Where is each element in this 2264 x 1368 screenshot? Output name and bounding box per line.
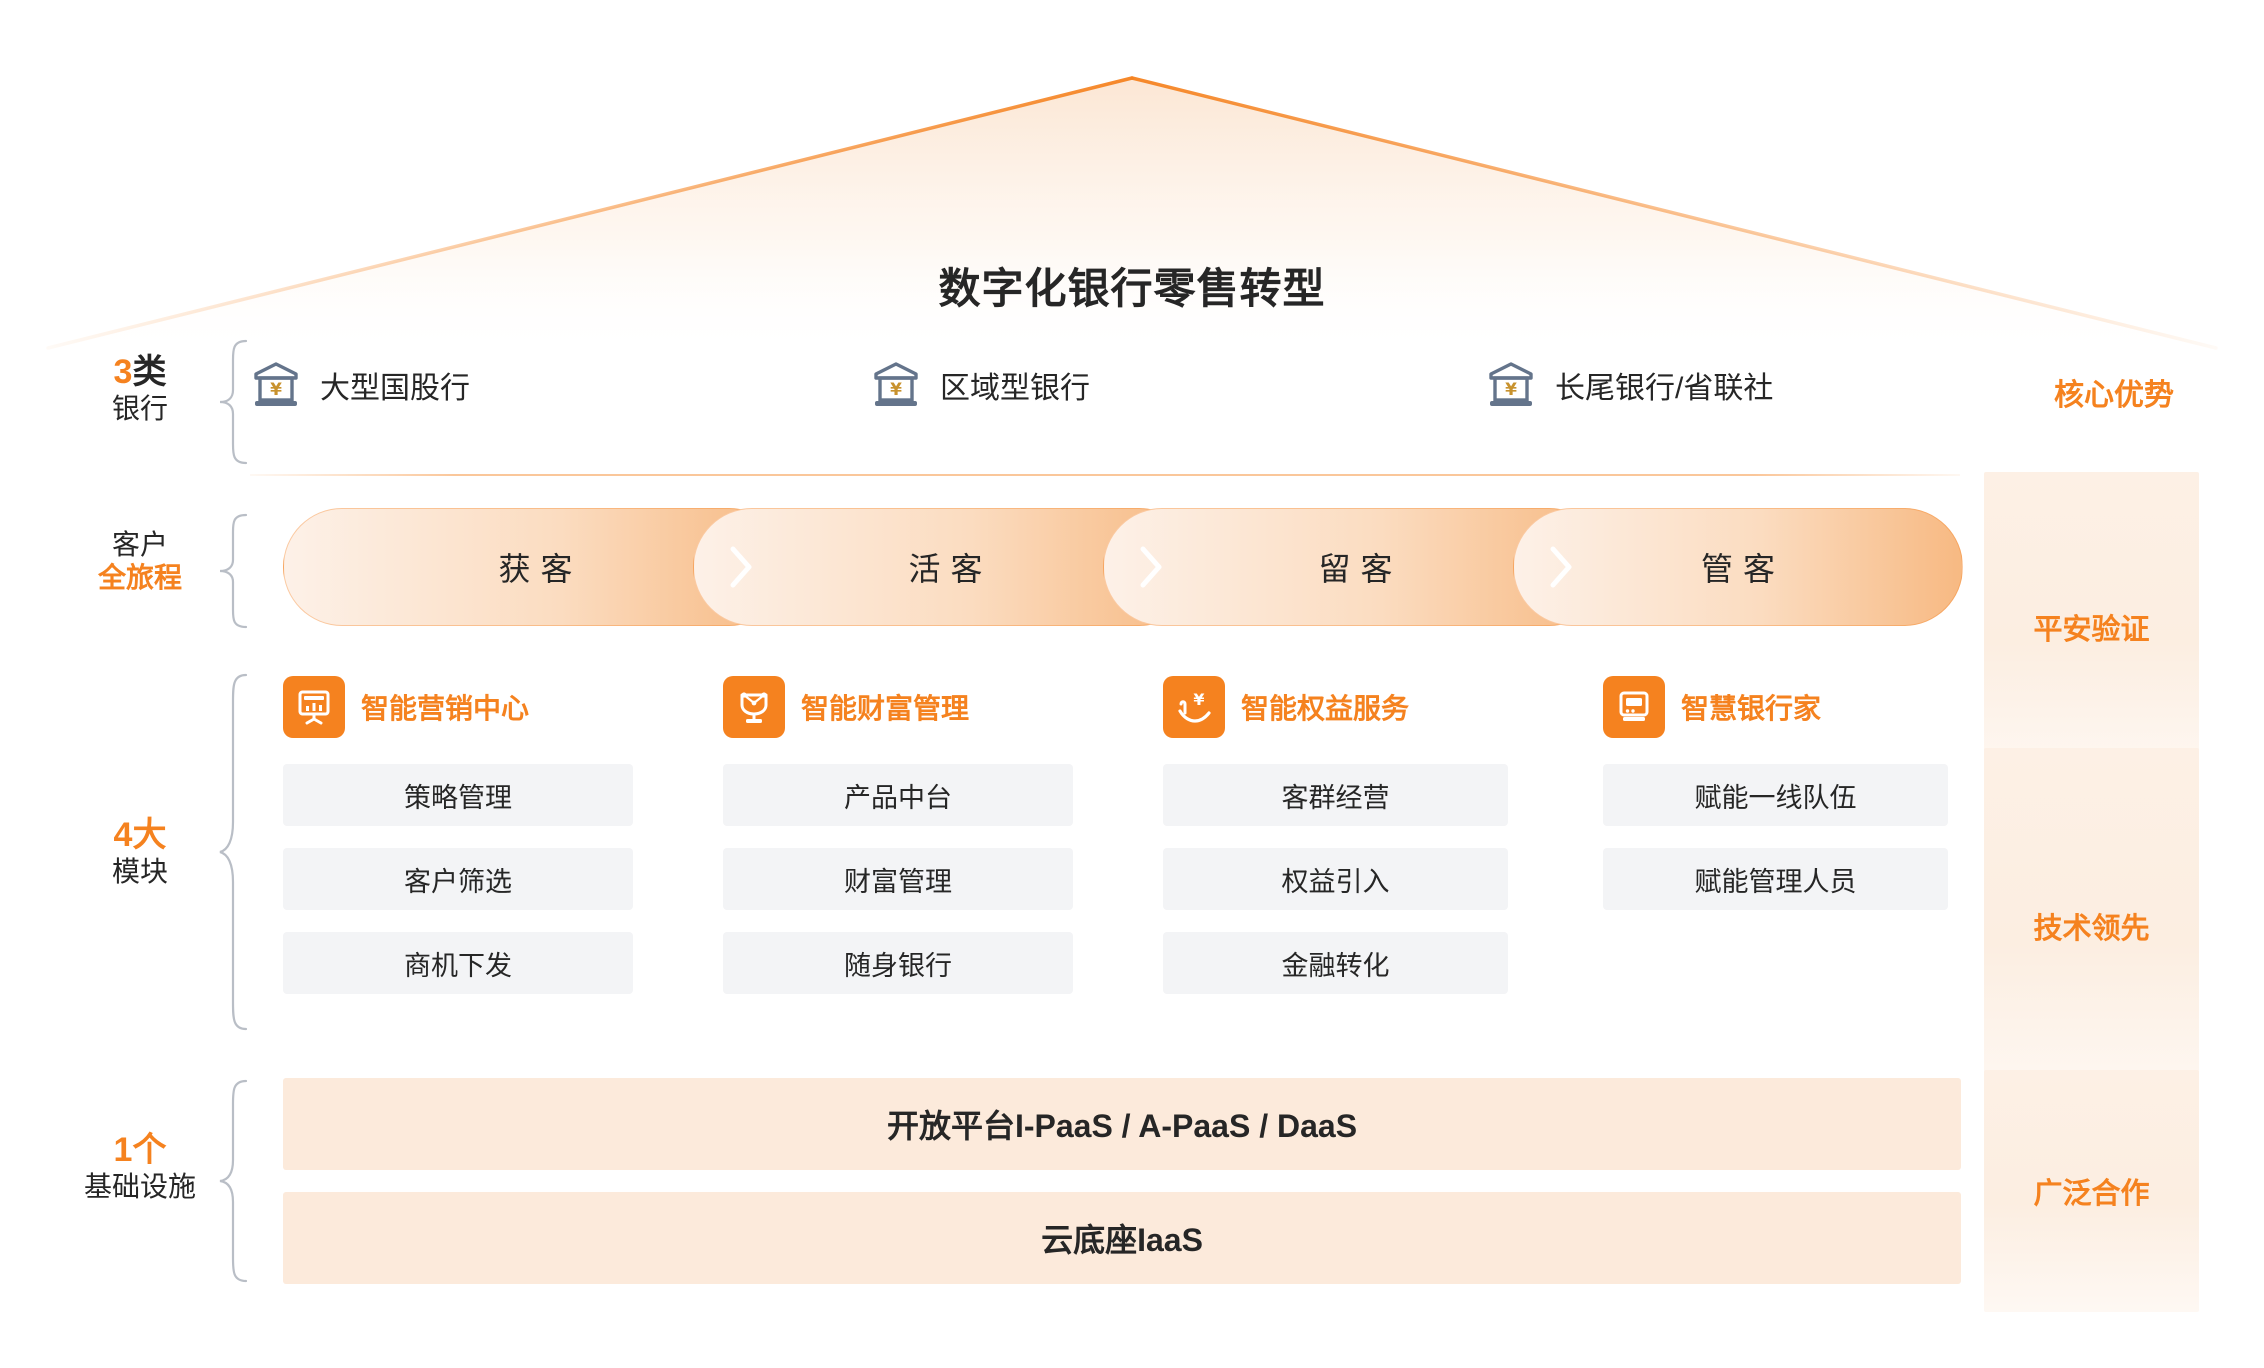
advantage-panel-1[interactable]: 平安验证 xyxy=(1984,472,2199,782)
brace-infrastructure xyxy=(216,1078,250,1284)
svg-text:¥: ¥ xyxy=(270,380,282,400)
row-label-modules: 4大 模块 xyxy=(70,815,210,888)
module-header[interactable]: 智能营销中心 xyxy=(283,672,633,742)
advantage-panel-3[interactable]: 广泛合作 xyxy=(1984,1070,2199,1312)
infrastructure-bar-1[interactable]: 开放平台I-PaaS / A-PaaS / DaaS xyxy=(283,1078,1961,1170)
module-column-1: 智能营销中心 策略管理 客户筛选 商机下发 xyxy=(283,672,633,994)
bank-type-name: 长尾银行/省联社 xyxy=(1555,363,1773,407)
row-label-banks: 3类 银行 xyxy=(70,352,210,425)
module-column-3: ¥ 智能权益服务 客群经营 权益引入 金融转化 xyxy=(1163,672,1508,994)
module-title: 智能财富管理 xyxy=(801,687,969,727)
row-label-journey: 客户 全旅程 xyxy=(70,528,210,594)
row-label-banks-number: 3 xyxy=(114,353,133,391)
bank-types-row: ¥ 大型国股行 ¥ 区域型银行 ¥ xyxy=(250,330,1950,440)
bank-type-name: 大型国股行 xyxy=(320,363,470,407)
row-label-modules-unit: 大 xyxy=(132,816,166,854)
module-item-chip[interactable]: 客户筛选 xyxy=(283,848,633,910)
brace-banks xyxy=(216,338,250,466)
diagram-canvas: 数字化银行零售转型 3类 银行 ¥ 大型国股行 xyxy=(0,0,2264,1368)
page-title: 数字化银行零售转型 xyxy=(0,255,2264,316)
section-divider xyxy=(250,474,1960,476)
bank-building-icon: ¥ xyxy=(250,359,302,411)
hand-holding-yuan-icon: ¥ xyxy=(1163,676,1225,738)
modules-row: 智能营销中心 策略管理 客户筛选 商机下发 xyxy=(283,672,1973,1032)
row-label-modules-number: 4 xyxy=(114,816,133,854)
journey-stage-4[interactable]: 管客 xyxy=(1513,508,1963,626)
bank-type-item-3[interactable]: ¥ 长尾银行/省联社 xyxy=(1485,359,1773,411)
row-label-modules-sub: 模块 xyxy=(70,855,210,888)
journey-stage-label: 管客 xyxy=(1691,544,1785,590)
module-item-chip[interactable]: 商机下发 xyxy=(283,932,633,994)
wealth-trophy-chart-icon xyxy=(723,676,785,738)
bank-type-item-1[interactable]: ¥ 大型国股行 xyxy=(250,359,870,411)
presentation-chart-icon xyxy=(283,676,345,738)
module-item-chip[interactable]: 客群经营 xyxy=(1163,764,1508,826)
module-item-chip[interactable]: 随身银行 xyxy=(723,932,1073,994)
journey-stage-label: 活客 xyxy=(898,544,992,590)
row-label-journey-bottom: 全旅程 xyxy=(70,561,210,594)
bank-building-icon: ¥ xyxy=(870,359,922,411)
row-label-banks-unit: 类 xyxy=(132,353,166,391)
module-title: 智能营销中心 xyxy=(361,687,529,727)
row-label-journey-top: 客户 xyxy=(70,528,210,561)
module-title: 智慧银行家 xyxy=(1681,687,1821,727)
brace-journey xyxy=(216,512,250,630)
customer-journey-row: 获客 活客 留客 管客 xyxy=(283,508,1963,626)
bank-type-name: 区域型银行 xyxy=(940,363,1090,407)
module-item-chip[interactable]: 金融转化 xyxy=(1163,932,1508,994)
advantage-panel-2[interactable]: 技术领先 xyxy=(1984,748,2199,1104)
advantages-title: 核心优势 xyxy=(1994,370,2234,414)
module-column-4: 智慧银行家 赋能一线队伍 赋能管理人员 xyxy=(1603,672,1948,910)
module-column-2: 智能财富管理 产品中台 财富管理 随身银行 xyxy=(723,672,1073,994)
module-title: 智能权益服务 xyxy=(1241,687,1409,727)
journey-stage-label: 留客 xyxy=(1308,544,1402,590)
bank-building-icon: ¥ xyxy=(1485,359,1537,411)
journey-stage-label: 获客 xyxy=(488,544,582,590)
infrastructure-row: 开放平台I-PaaS / A-PaaS / DaaS 云底座IaaS xyxy=(283,1078,1961,1284)
row-label-modules-big: 4大 xyxy=(70,815,210,855)
roof-shape: 数字化银行零售转型 xyxy=(0,70,2264,370)
svg-text:¥: ¥ xyxy=(1193,690,1204,709)
brace-modules xyxy=(216,672,250,1032)
row-label-banks-big: 3类 xyxy=(70,352,210,392)
bank-type-item-2[interactable]: ¥ 区域型银行 xyxy=(870,359,1485,411)
module-header[interactable]: ¥ 智能权益服务 xyxy=(1163,672,1508,742)
module-item-chip[interactable]: 策略管理 xyxy=(283,764,633,826)
infrastructure-bar-2[interactable]: 云底座IaaS xyxy=(283,1192,1961,1284)
module-header[interactable]: 智慧银行家 xyxy=(1603,672,1948,742)
row-label-infrastructure: 1个 基础设施 xyxy=(70,1130,210,1203)
module-item-chip[interactable]: 赋能管理人员 xyxy=(1603,848,1948,910)
svg-text:¥: ¥ xyxy=(1505,380,1517,400)
module-item-chip[interactable]: 财富管理 xyxy=(723,848,1073,910)
module-header[interactable]: 智能财富管理 xyxy=(723,672,1073,742)
row-label-infrastructure-big: 1个 xyxy=(70,1130,210,1170)
module-item-chip[interactable]: 产品中台 xyxy=(723,764,1073,826)
desktop-monitor-icon xyxy=(1603,676,1665,738)
module-item-chip[interactable]: 赋能一线队伍 xyxy=(1603,764,1948,826)
row-label-infrastructure-sub: 基础设施 xyxy=(70,1170,210,1203)
module-item-chip[interactable]: 权益引入 xyxy=(1163,848,1508,910)
row-label-banks-sub: 银行 xyxy=(70,392,210,425)
svg-text:¥: ¥ xyxy=(890,380,902,400)
